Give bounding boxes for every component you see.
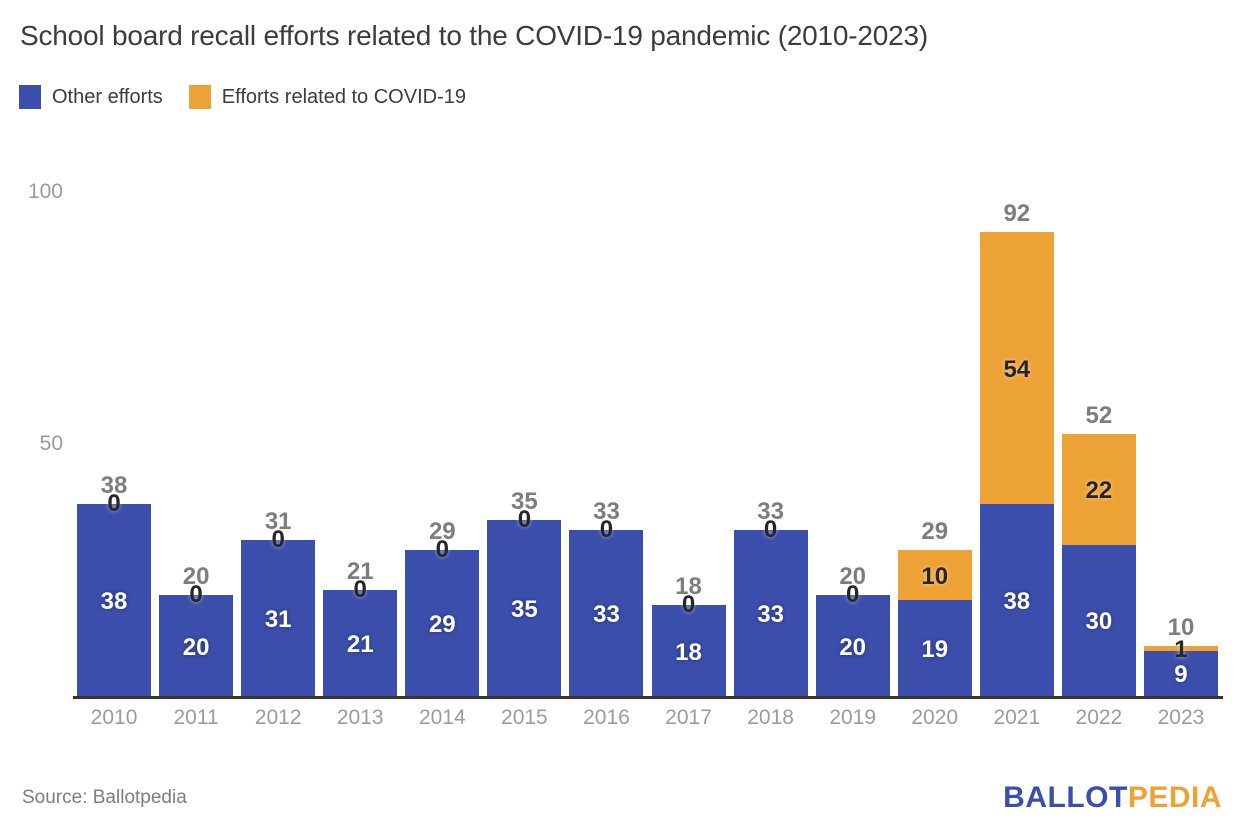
x-axis-tick-2011: 2011 <box>159 706 233 730</box>
bar-total-2023: 10 <box>1144 614 1218 642</box>
bar-segment-other-2015[interactable] <box>487 520 561 696</box>
bar-total-2016: 33 <box>569 498 643 526</box>
x-axis-tick-2013: 2013 <box>323 706 397 730</box>
bar-segment-covid-2021[interactable] <box>980 232 1054 504</box>
bar-group-2012[interactable]: 31031 <box>241 540 315 696</box>
bar-segment-other-2017[interactable] <box>652 605 726 696</box>
bar-total-2012: 31 <box>241 508 315 536</box>
bar-segment-other-2021[interactable] <box>980 504 1054 696</box>
bar-total-2015: 35 <box>487 488 561 516</box>
bar-segment-other-2023[interactable] <box>1144 651 1218 696</box>
bar-group-2018[interactable]: 33033 <box>734 530 808 696</box>
bar-segment-other-2019[interactable] <box>816 595 890 696</box>
x-axis-tick-2016: 2016 <box>569 706 643 730</box>
bar-total-2020: 29 <box>898 518 972 546</box>
ballotpedia-logo: BALLOTPEDIA <box>1003 781 1222 815</box>
bar-group-2013[interactable]: 21021 <box>323 590 397 696</box>
x-axis-tick-2017: 2017 <box>652 706 726 730</box>
bar-group-2023[interactable]: 9110 <box>1144 646 1218 696</box>
logo-text-pedia: PEDIA <box>1128 781 1222 814</box>
bar-total-2011: 20 <box>159 563 233 591</box>
bar-group-2016[interactable]: 33033 <box>569 530 643 696</box>
bar-total-2014: 29 <box>405 518 479 546</box>
bar-total-2022: 52 <box>1062 402 1136 430</box>
bar-segment-covid-2023[interactable] <box>1144 646 1218 651</box>
bar-group-2017[interactable]: 18018 <box>652 605 726 696</box>
bar-group-2021[interactable]: 385492 <box>980 232 1054 696</box>
x-axis-line <box>73 696 1223 699</box>
bar-segment-other-2014[interactable] <box>405 550 479 696</box>
x-axis-tick-2015: 2015 <box>487 706 561 730</box>
x-axis-tick-2012: 2012 <box>241 706 315 730</box>
x-axis-tick-2010: 2010 <box>77 706 151 730</box>
bar-group-2020[interactable]: 191029 <box>898 550 972 696</box>
bar-segment-other-2011[interactable] <box>159 595 233 696</box>
x-axis-tick-2019: 2019 <box>816 706 890 730</box>
x-axis-tick-2022: 2022 <box>1062 706 1136 730</box>
bar-segment-other-2013[interactable] <box>323 590 397 696</box>
bar-group-2022[interactable]: 302252 <box>1062 434 1136 696</box>
x-axis-tick-2020: 2020 <box>898 706 972 730</box>
bar-total-2018: 33 <box>734 498 808 526</box>
bar-segment-covid-2020[interactable] <box>898 550 972 600</box>
x-axis-tick-2023: 2023 <box>1144 706 1218 730</box>
bar-segment-covid-2022[interactable] <box>1062 434 1136 545</box>
y-axis-tick-100: 100 <box>28 180 63 204</box>
bar-segment-other-2020[interactable] <box>898 600 972 696</box>
bar-segment-other-2010[interactable] <box>77 504 151 696</box>
chart-plot-area: 50100 3803820102002020113103120122102120… <box>0 0 1240 840</box>
logo-text-ballot: BALLOT <box>1003 781 1128 814</box>
bar-group-2019[interactable]: 20020 <box>816 595 890 696</box>
x-axis-tick-2018: 2018 <box>734 706 808 730</box>
bar-total-2019: 20 <box>816 563 890 591</box>
bar-segment-other-2022[interactable] <box>1062 545 1136 696</box>
x-axis-tick-2014: 2014 <box>405 706 479 730</box>
source-note: Source: Ballotpedia <box>22 787 187 809</box>
bar-group-2014[interactable]: 29029 <box>405 550 479 696</box>
bar-total-2017: 18 <box>652 573 726 601</box>
bar-segment-other-2016[interactable] <box>569 530 643 696</box>
bar-segment-other-2012[interactable] <box>241 540 315 696</box>
bar-total-2021: 92 <box>980 200 1054 228</box>
x-axis-tick-2021: 2021 <box>980 706 1054 730</box>
bar-total-2013: 21 <box>323 558 397 586</box>
bar-group-2010[interactable]: 38038 <box>77 504 151 696</box>
bar-group-2011[interactable]: 20020 <box>159 595 233 696</box>
y-axis-tick-50: 50 <box>40 432 63 456</box>
bar-segment-other-2018[interactable] <box>734 530 808 696</box>
bar-group-2015[interactable]: 35035 <box>487 520 561 696</box>
bar-total-2010: 38 <box>77 472 151 500</box>
